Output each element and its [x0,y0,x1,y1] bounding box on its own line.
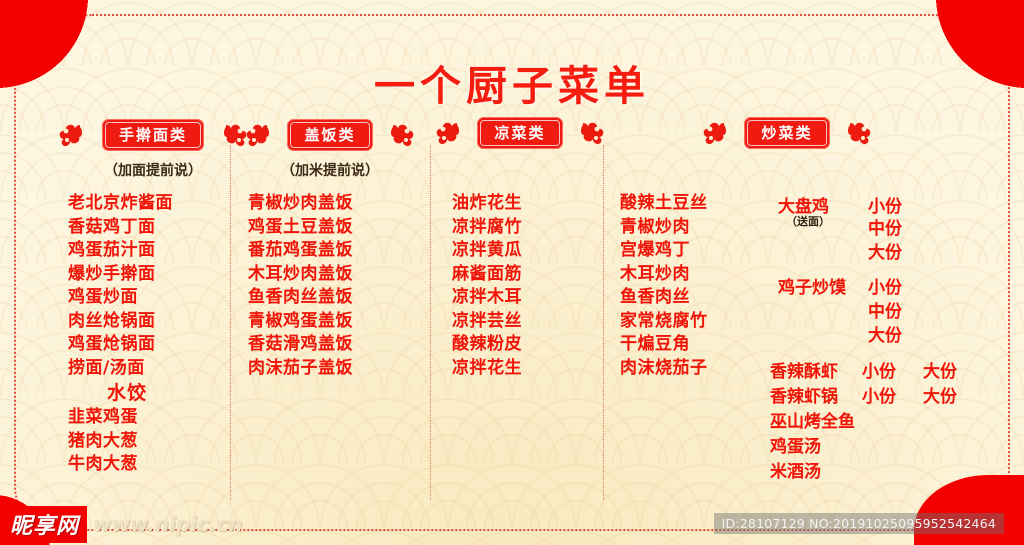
item-list-stir-fry: 酸辣土豆丝 青椒炒肉 宫爆鸡丁 木耳炒肉 鱼香肉丝 家常烧腐竹 干煸豆角 肉沫烧… [620,192,708,380]
section-header-cold-dishes: 凉菜类 [455,118,585,148]
menu-item[interactable]: 鸡蛋炝锅面 [68,333,186,357]
menu-item[interactable]: 肉沫茄子盖饭 [248,357,353,381]
menu-item[interactable]: 鸡蛋土豆盖饭 [248,216,353,240]
portion-option[interactable]: 大份 [868,238,902,263]
section-header-label: 盖饭类 [287,119,372,151]
portion-option[interactable]: 中份 [868,214,902,239]
subsection-header-dumplings: 水饺 [68,380,186,406]
portion-option[interactable]: 小份 [862,382,896,407]
menu-item[interactable]: 酸辣粉皮 [452,333,522,357]
cloud-ornament-icon [435,119,461,147]
watermark-url: www.nipic.cn [93,512,243,536]
watermark: 昵享网 www.nipic.cn [0,503,300,545]
menu-item[interactable]: 青椒炒肉盖饭 [248,192,353,216]
page-title: 一个厨子菜单 [0,52,1024,112]
portion-option[interactable]: 小份 [868,273,902,298]
cloud-ornament-icon [58,121,84,149]
menu-item[interactable]: 牛肉大葱 [68,453,186,477]
special-dish-name[interactable]: 香辣虾锅 [770,382,838,407]
corner-decoration [914,475,1024,545]
portion-option[interactable]: 大份 [923,357,957,382]
portion-option[interactable]: 大份 [923,382,957,407]
portion-option[interactable]: 大份 [868,321,902,346]
special-dish-name[interactable]: 香辣酥虾 [770,357,838,382]
menu-item[interactable]: 韭菜鸡蛋 [68,406,186,430]
special-dish-note: （送面） [786,213,830,229]
cloud-ornament-icon [389,121,415,149]
menu-item[interactable]: 青椒炒肉 [620,216,708,240]
menu-item[interactable]: 家常烧腐竹 [620,310,708,334]
menu-item[interactable]: 凉拌木耳 [452,286,522,310]
special-dish-name[interactable]: 鸡蛋汤 [770,432,821,457]
menu-item[interactable]: 凉拌芸丝 [452,310,522,334]
watermark-logo: 昵享网 [0,506,87,543]
section-header-handmade-noodles: 手擀面类 [78,120,228,150]
menu-item[interactable]: 鱼香肉丝 [620,286,708,310]
column-divider-1 [230,145,231,500]
menu-panel: 一个厨子菜单 手擀面类 （加面提前说） 老北京炸酱面 香菇鸡丁面 鸡蛋茄汁面 爆… [0,0,1024,545]
menu-item[interactable]: 凉拌花生 [452,357,522,381]
cloud-ornament-icon [846,119,872,147]
special-dish-name[interactable]: 鸡子炒馍 [778,273,846,298]
menu-item[interactable]: 番茄鸡蛋盖饭 [248,239,353,263]
special-dish-name[interactable]: 巫山烤全鱼 [770,407,855,432]
special-dish-name[interactable]: 米酒汤 [770,457,821,482]
menu-item[interactable]: 鸡蛋茄汁面 [68,239,186,263]
portion-option[interactable]: 中份 [868,297,902,322]
section-header-label: 手擀面类 [102,119,204,151]
menu-item[interactable]: 油炸花生 [452,192,522,216]
cloud-ornament-icon [579,119,605,147]
menu-item[interactable]: 猪肉大葱 [68,430,186,454]
menu-item[interactable]: 酸辣土豆丝 [620,192,708,216]
item-list-cold-dishes: 油炸花生 凉拌腐竹 凉拌黄瓜 麻酱面筋 凉拌木耳 凉拌芸丝 酸辣粉皮 凉拌花生 [452,192,522,380]
menu-item[interactable]: 肉丝炝锅面 [68,310,186,334]
item-list-handmade-noodles: 老北京炸酱面 香菇鸡丁面 鸡蛋茄汁面 爆炒手擀面 鸡蛋炒面 肉丝炝锅面 鸡蛋炝锅… [68,192,186,477]
menu-item[interactable]: 鱼香肉丝盖饭 [248,286,353,310]
column-divider-2 [430,145,431,500]
section-header-label: 凉菜类 [477,117,562,149]
section-header-label: 炒菜类 [744,117,829,149]
menu-item[interactable]: 青椒鸡蛋盖饭 [248,310,353,334]
menu-item[interactable]: 麻酱面筋 [452,263,522,287]
menu-item[interactable]: 凉拌黄瓜 [452,239,522,263]
item-list-rice-bowls: 青椒炒肉盖饭 鸡蛋土豆盖饭 番茄鸡蛋盖饭 木耳炒肉盖饭 鱼香肉丝盖饭 青椒鸡蛋盖… [248,192,353,380]
cloud-ornament-icon [702,119,728,147]
menu-item[interactable]: 老北京炸酱面 [68,192,186,216]
menu-item[interactable]: 木耳炒肉盖饭 [248,263,353,287]
column-divider-3 [603,145,604,500]
menu-item[interactable]: 干煸豆角 [620,333,708,357]
section-subtitle-rice-bowls: （加米提前说） [265,160,395,180]
menu-item[interactable]: 香菇滑鸡盖饭 [248,333,353,357]
portion-option[interactable]: 小份 [862,357,896,382]
menu-item[interactable]: 香菇鸡丁面 [68,216,186,240]
menu-item[interactable]: 宫爆鸡丁 [620,239,708,263]
section-header-stir-fry: 炒菜类 [722,118,852,148]
section-header-rice-bowls: 盖饭类 [265,120,395,150]
cloud-ornament-icon [245,121,271,149]
menu-item[interactable]: 捞面/汤面 [68,357,186,381]
menu-item[interactable]: 木耳炒肉 [620,263,708,287]
menu-item[interactable]: 凉拌腐竹 [452,216,522,240]
menu-item[interactable]: 肉沫烧茄子 [620,357,708,381]
watermark-id: ID:28107129 NO:20191025095952542464 [714,513,1004,534]
menu-item[interactable]: 鸡蛋炒面 [68,286,186,310]
section-subtitle-handmade-noodles: （加面提前说） [78,160,228,180]
menu-item[interactable]: 爆炒手擀面 [68,263,186,287]
